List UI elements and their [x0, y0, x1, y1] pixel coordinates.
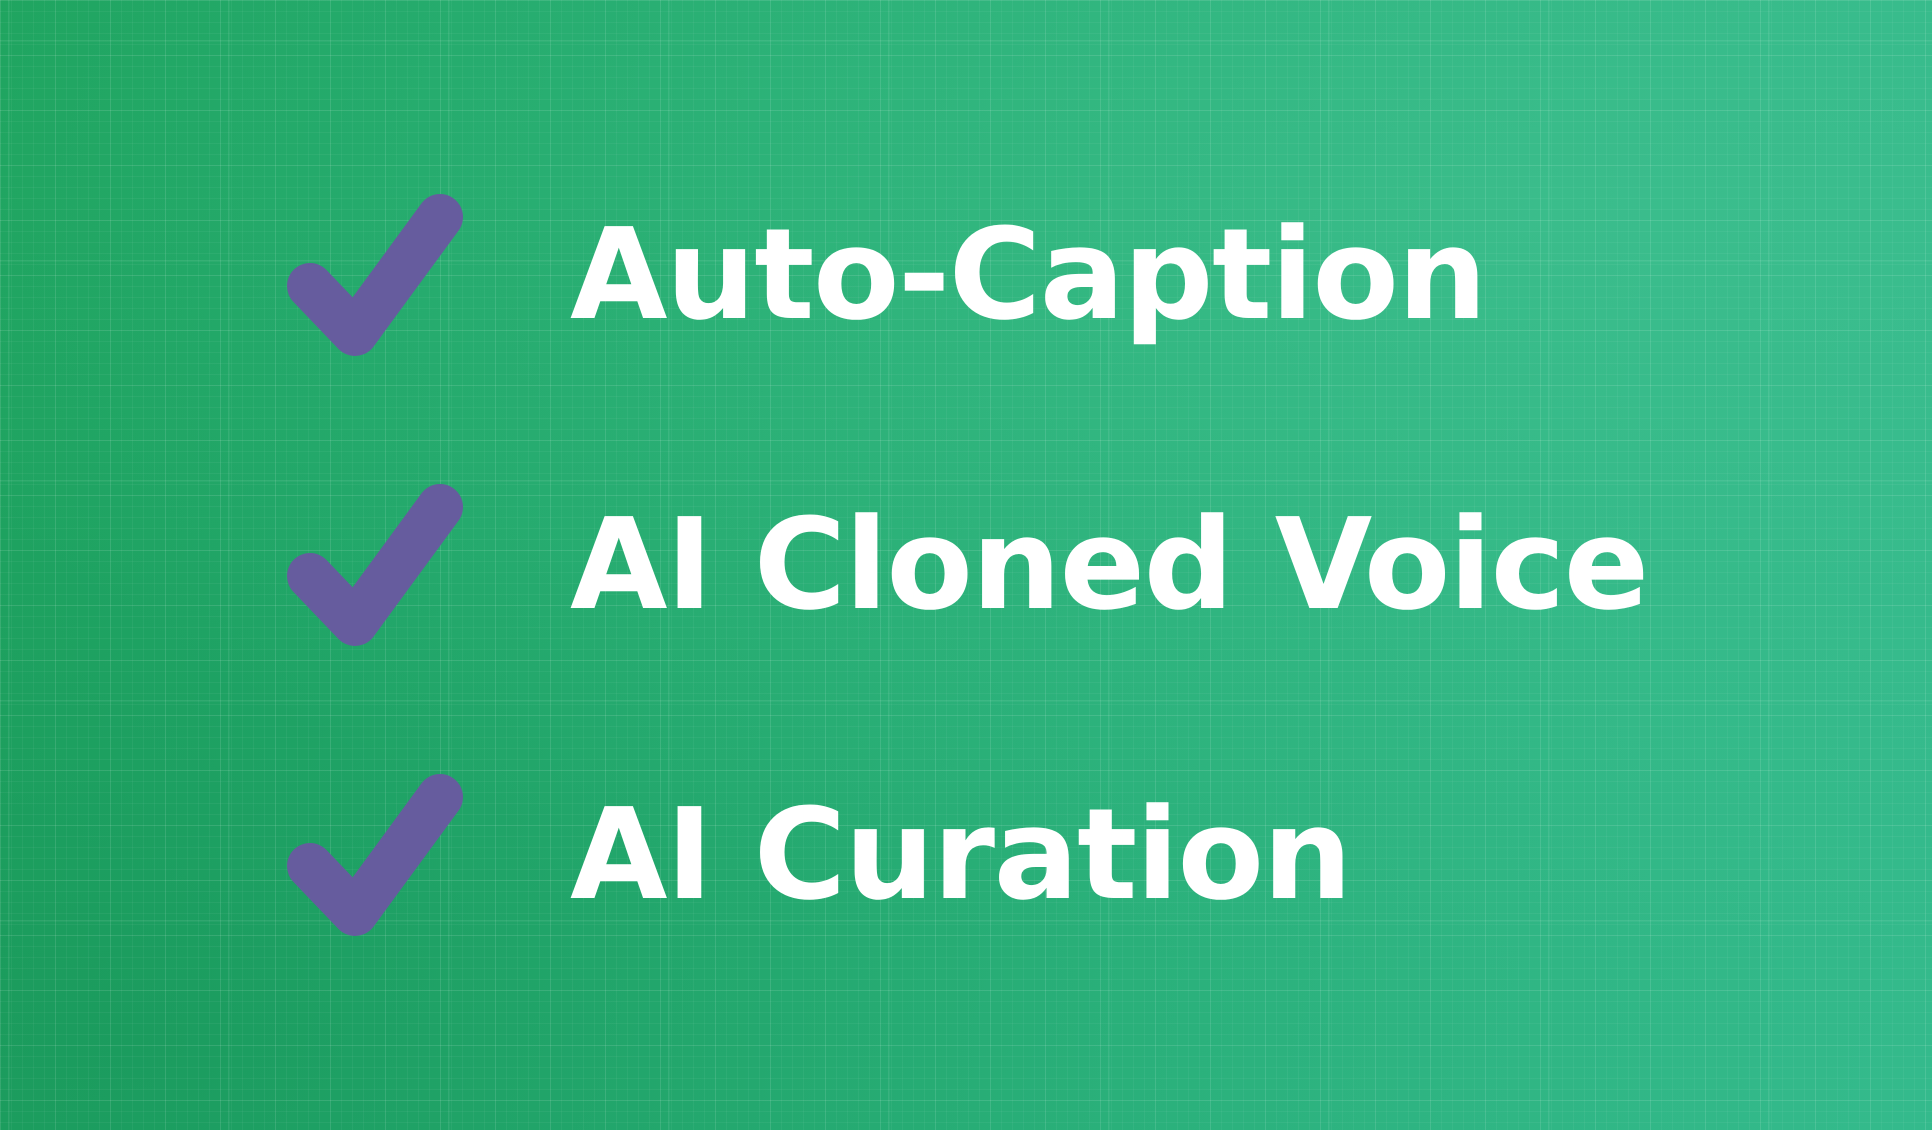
- feature-checklist: Auto-Caption AI Cloned Voice AI Curation: [0, 0, 1932, 1130]
- checkmark-icon: [272, 173, 477, 378]
- checklist-item-label: Auto-Caption: [570, 212, 1486, 338]
- checklist-item-label: AI Cloned Voice: [570, 502, 1648, 628]
- slide-canvas: Auto-Caption AI Cloned Voice AI Curation: [0, 0, 1932, 1130]
- checklist-item-2: AI Cloned Voice: [272, 420, 1932, 710]
- checklist-item-1: Auto-Caption: [272, 130, 1932, 420]
- checklist-item-label: AI Curation: [570, 792, 1351, 918]
- checklist-item-3: AI Curation: [272, 710, 1932, 1000]
- checkmark-icon: [272, 463, 477, 668]
- checkmark-icon: [272, 753, 477, 958]
